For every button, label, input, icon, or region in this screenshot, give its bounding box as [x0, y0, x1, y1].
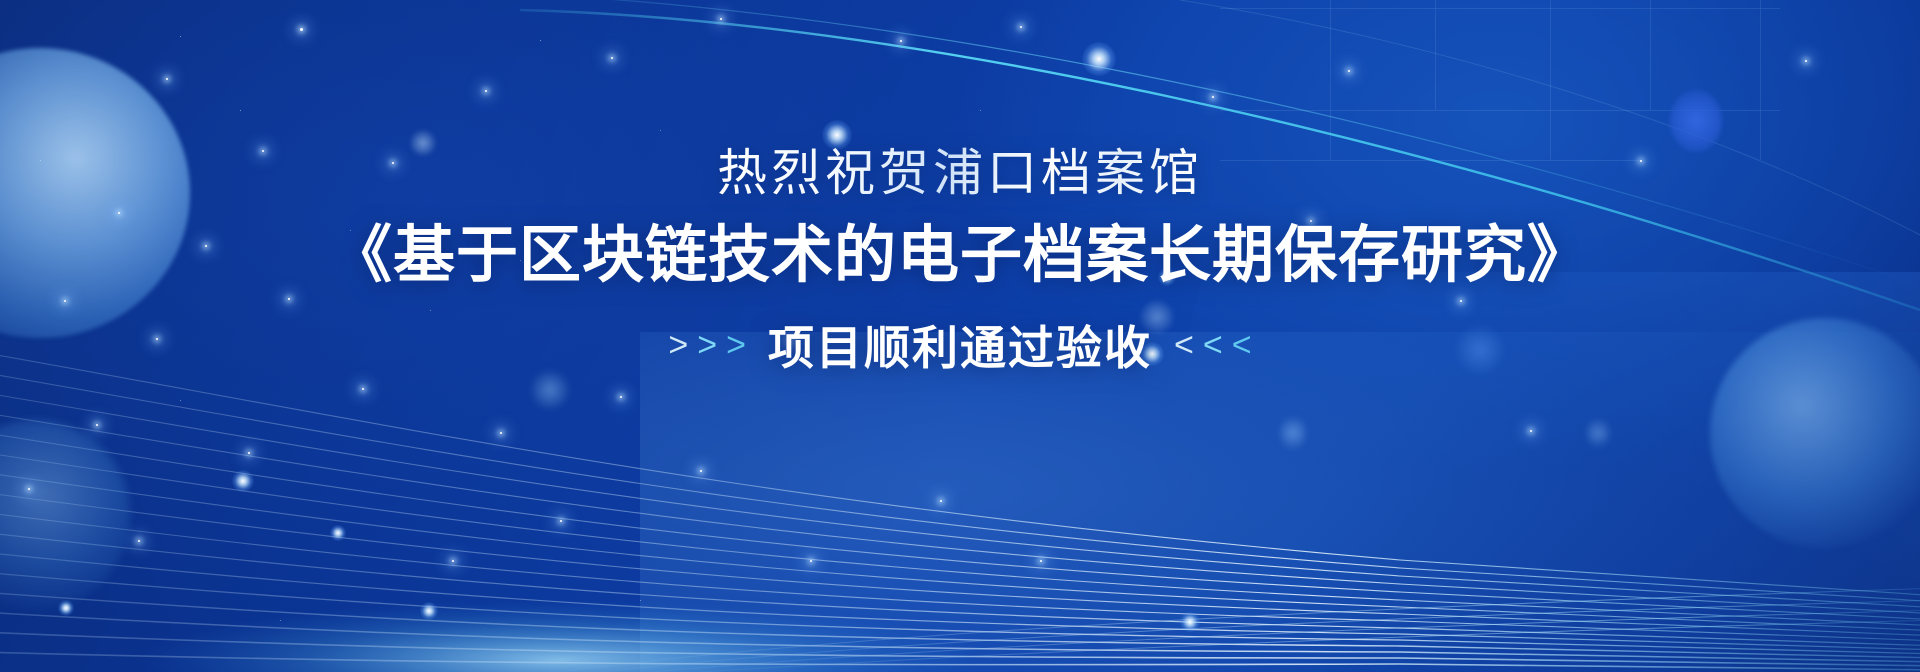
celebration-banner: 热烈祝贺浦口档案馆 《基于区块链技术的电子档案长期保存研究》 > > > 项目顺… — [0, 0, 1920, 672]
chevron-left-icon-1: < — [1174, 328, 1194, 362]
chevron-right-icon-1: > — [668, 328, 688, 362]
banner-text-block: 热烈祝贺浦口档案馆 《基于区块链技术的电子档案长期保存研究》 > > > 项目顺… — [0, 0, 1920, 672]
headline: 热烈祝贺浦口档案馆 — [717, 146, 1203, 201]
chevron-right-icon-group: > > > — [668, 328, 746, 362]
subline: 项目顺利通过验收 — [768, 312, 1152, 378]
chevron-right-icon-3: > — [726, 328, 746, 362]
page-title: 《基于区块链技术的电子档案长期保存研究》 — [330, 223, 1590, 290]
chevron-left-icon-group: < < < — [1174, 328, 1252, 362]
chevron-left-icon-3: < — [1232, 328, 1252, 362]
subline-row: > > > 项目顺利通过验收 < < < — [668, 312, 1251, 378]
chevron-left-icon-2: < — [1203, 328, 1223, 362]
chevron-right-icon-2: > — [697, 328, 717, 362]
